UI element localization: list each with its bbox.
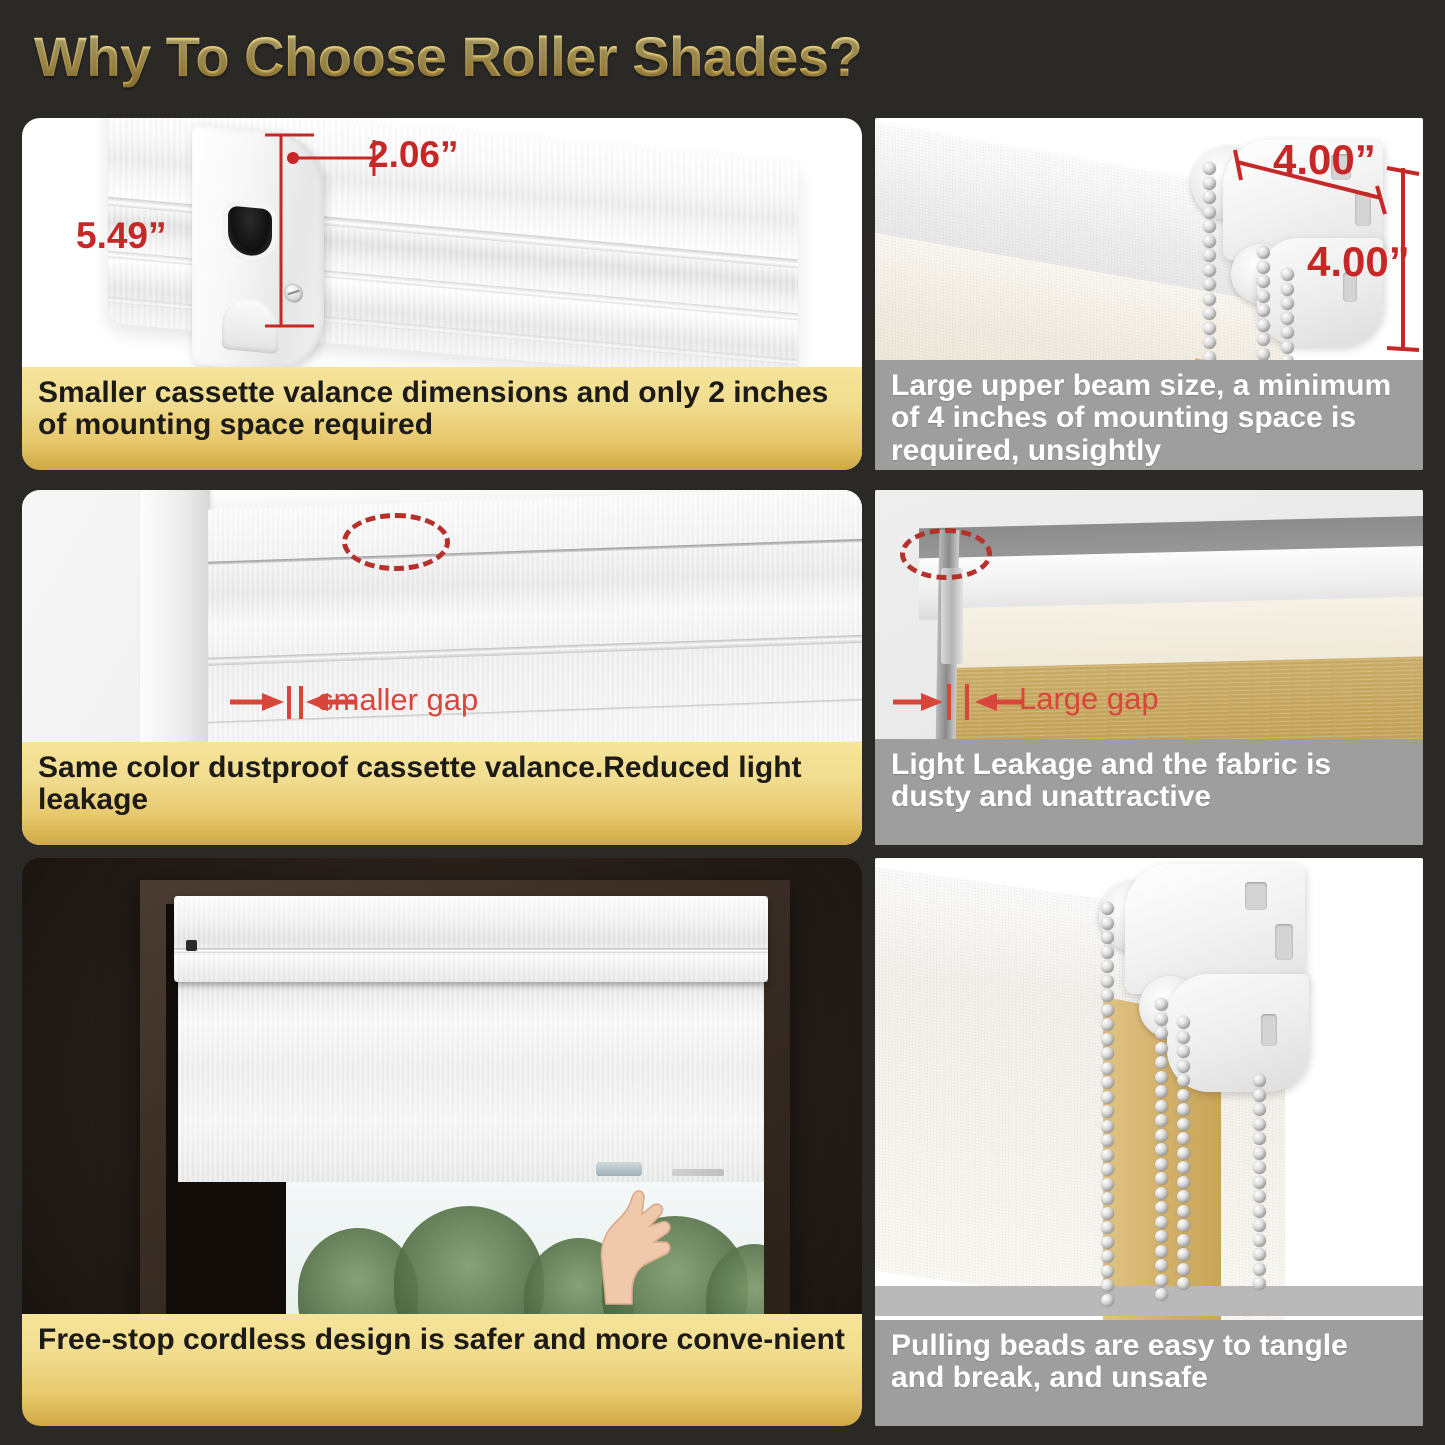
- comparison-grid: 2.06” 5.49” Smaller cassette valance dim…: [0, 0, 1445, 1445]
- panel-caption: Pulling beads are easy to tangle and bre…: [875, 1320, 1423, 1426]
- panel-cassette-valance-dimensions: 2.06” 5.49” Smaller cassette valance dim…: [22, 118, 862, 470]
- valance-bottom-bracket: [222, 297, 278, 354]
- window-frame-left: [140, 490, 210, 780]
- brand-mark: [672, 1169, 724, 1176]
- panel-caption: Light Leakage and the fabric is dusty an…: [875, 739, 1423, 845]
- cassette-valance: [174, 896, 768, 982]
- panel-caption: Large upper beam size, a minimum of 4 in…: [875, 360, 1423, 470]
- beam-width-label: 4.00”: [1273, 136, 1376, 184]
- shade-pull-tab[interactable]: [596, 1162, 642, 1176]
- panel-pulling-beads-tangle: Pulling beads are easy to tangle and bre…: [875, 858, 1423, 1426]
- large-gap-label: Large gap: [1019, 681, 1159, 717]
- bead-chain-right[interactable]: [1253, 1074, 1266, 1304]
- panel-free-stop-cordless-window: Free-stop cordless design is safer and m…: [22, 858, 862, 1426]
- window-frame: [140, 880, 790, 1320]
- screw-icon: [284, 283, 303, 304]
- smaller-gap-label: smaller gap: [318, 682, 478, 718]
- dimension-height-label: 5.49”: [76, 215, 167, 257]
- panel-large-upper-beam: 4.00” 4.00” Large upper beam size, a min…: [875, 118, 1423, 470]
- window-opening: [166, 904, 764, 1320]
- hand-illustration: [586, 1176, 680, 1306]
- panel-caption: Free-stop cordless design is safer and m…: [22, 1314, 862, 1426]
- panel-caption: Smaller cassette valance dimensions and …: [22, 367, 862, 470]
- valance-end-cap: [192, 124, 324, 376]
- panel-light-leakage-dusty-fabric: Large gap Light Leakage and the fabric i…: [875, 490, 1423, 845]
- dimension-width-label: 2.06”: [368, 134, 459, 176]
- beam-height-label: 4.00”: [1307, 238, 1410, 286]
- valance-slot-icon: [228, 206, 272, 258]
- cassette-shade-photo: [208, 490, 862, 764]
- panel-dustproof-cassette-valance: smaller gap Same color dustproof cassett…: [22, 490, 862, 845]
- gap-highlight-ellipse: [900, 528, 992, 580]
- bead-chain-middle[interactable]: [1155, 998, 1168, 1298]
- gap-highlight-ellipse: [342, 513, 450, 571]
- panel-caption: Same color dustproof cassette valance.Re…: [22, 742, 862, 845]
- bead-chain-left[interactable]: [1101, 902, 1114, 1302]
- wall-strip: [875, 1286, 1423, 1316]
- bead-chain-middle-2[interactable]: [1177, 1016, 1190, 1298]
- shade-clip: [941, 568, 963, 664]
